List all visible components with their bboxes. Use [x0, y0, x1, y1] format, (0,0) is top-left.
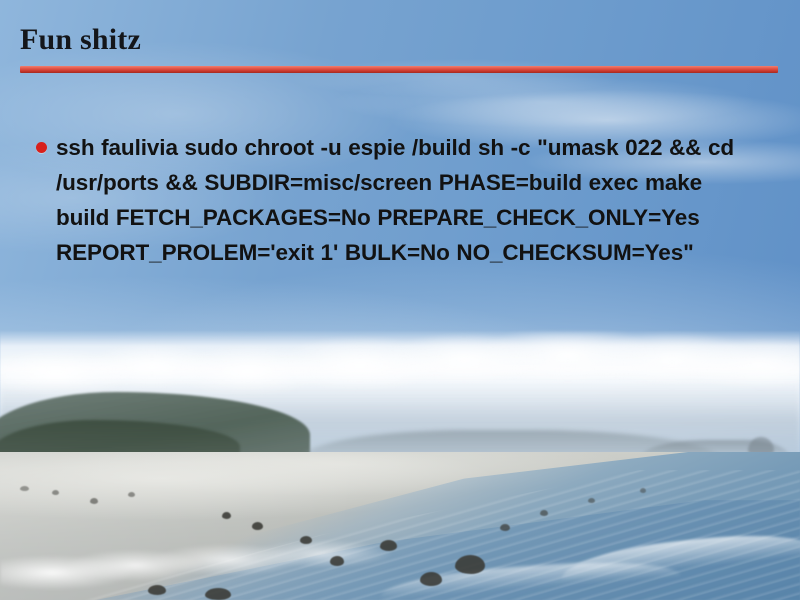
presentation-slide: Fun shitz ssh faulivia sudo chroot -u es… [0, 0, 800, 600]
bullet-dot-icon [36, 142, 47, 153]
slide-title: Fun shitz [20, 22, 141, 58]
shoreline-rocks [0, 0, 800, 600]
list-item: ssh faulivia sudo chroot -u espie /build… [36, 130, 760, 270]
bullet-item-text: ssh faulivia sudo chroot -u espie /build… [56, 130, 760, 270]
slide-body: ssh faulivia sudo chroot -u espie /build… [36, 130, 760, 270]
title-underline-rule [20, 66, 778, 73]
